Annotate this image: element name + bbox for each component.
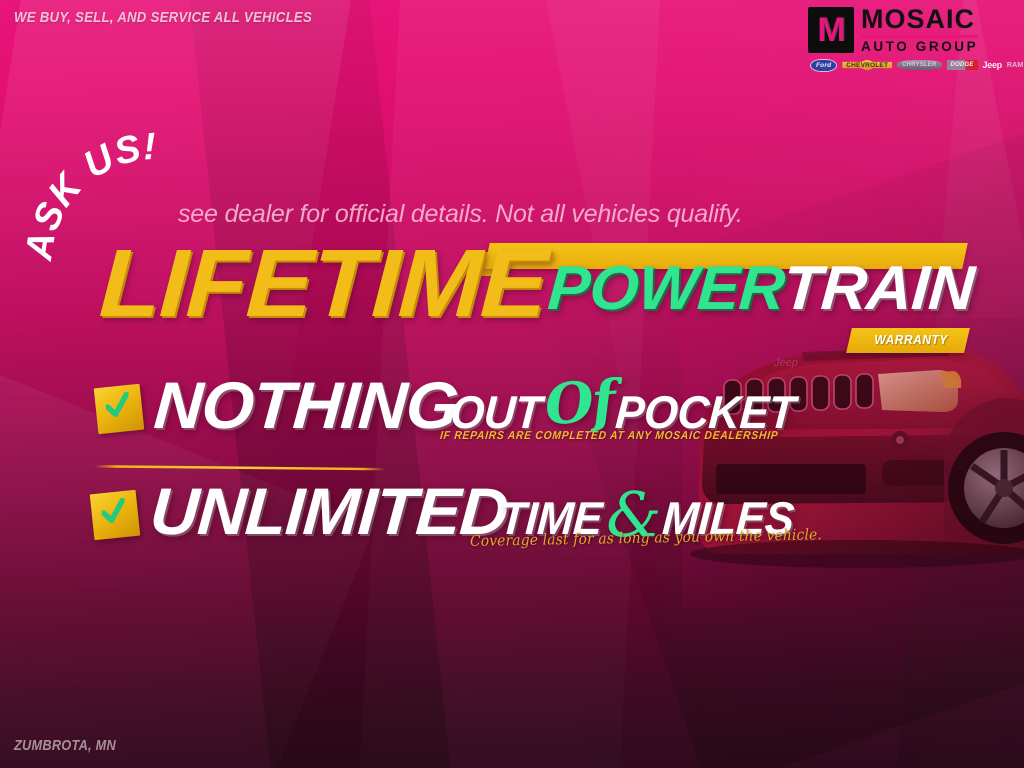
benefit-2-caption-wrap: Coverage last for as long as you own the…: [470, 532, 853, 550]
warranty-label: WARRANTY: [874, 332, 948, 347]
mosaic-m-mark-icon: M: [808, 7, 854, 53]
powertrain-headline: POWERTRAIN: [546, 258, 976, 320]
mosaic-auto-group-logo[interactable]: M MOSAIC AUTO GROUP Ford CHEVROLET CHRYS…: [808, 6, 1006, 72]
logo-divider-rule: [861, 35, 978, 38]
checkbox-checked-icon: [94, 384, 145, 435]
benefit-1-script-word: Of: [543, 373, 616, 434]
powertrain-power-word: POWER: [546, 254, 786, 323]
ram-logo-icon: RAM: [1007, 62, 1024, 69]
checkbox-checked-icon-2: [90, 490, 141, 541]
footer-location: ZUMBROTA, MN: [14, 737, 116, 754]
yellow-divider-stroke: [94, 458, 386, 467]
lifetime-headline: LIFETIME: [97, 236, 549, 332]
benefit-1-mid-word: OUT: [449, 389, 543, 435]
disclaimer-text: see dealer for official details. Not all…: [178, 200, 743, 229]
chevrolet-logo-icon: CHEVROLET: [842, 60, 892, 71]
warranty-ribbon: WARRANTY: [846, 328, 970, 353]
chrysler-logo-icon: CHRYSLER: [897, 60, 941, 70]
header-tagline: WE BUY, SELL, AND SERVICE ALL VEHICLES: [14, 9, 312, 26]
logo-company-subtitle: AUTO GROUP: [861, 40, 978, 54]
benefit-row-nothing-out-of-pocket: NOTHINGOUTOfPOCKET: [96, 372, 803, 438]
vehicle-image-jeep-compass: Jeep: [682, 318, 1024, 608]
powertrain-train-word: TRAIN: [781, 254, 977, 323]
logo-company-name: MOSAIC: [861, 6, 978, 33]
dodge-logo-icon: DODGE: [947, 60, 978, 70]
green-checkmark-icon: [104, 392, 131, 421]
ad-canvas: Jeep WE BUY, SELL: [0, 0, 1024, 768]
benefit-1-tail-word: POCKET: [614, 389, 796, 435]
ford-logo-icon: Ford: [810, 59, 837, 72]
benefit-1-main-word: NOTHING: [152, 372, 460, 438]
brand-logos-row: Ford CHEVROLET CHRYSLER DODGE Jeep RAM: [808, 59, 1006, 72]
jeep-logo-icon: Jeep: [983, 60, 1002, 70]
vehicle-tint-overlay: [682, 318, 1024, 608]
logo-mark-glyph: M: [817, 13, 844, 47]
benefit-1-caption: IF REPAIRS ARE COMPLETED AT ANY MOSAIC D…: [439, 430, 778, 442]
green-checkmark-icon-2: [100, 498, 127, 527]
benefit-2-main-word: UNLIMITED: [148, 478, 510, 544]
benefit-1-caption-wrap: IF REPAIRS ARE COMPLETED AT ANY MOSAIC D…: [440, 430, 816, 442]
